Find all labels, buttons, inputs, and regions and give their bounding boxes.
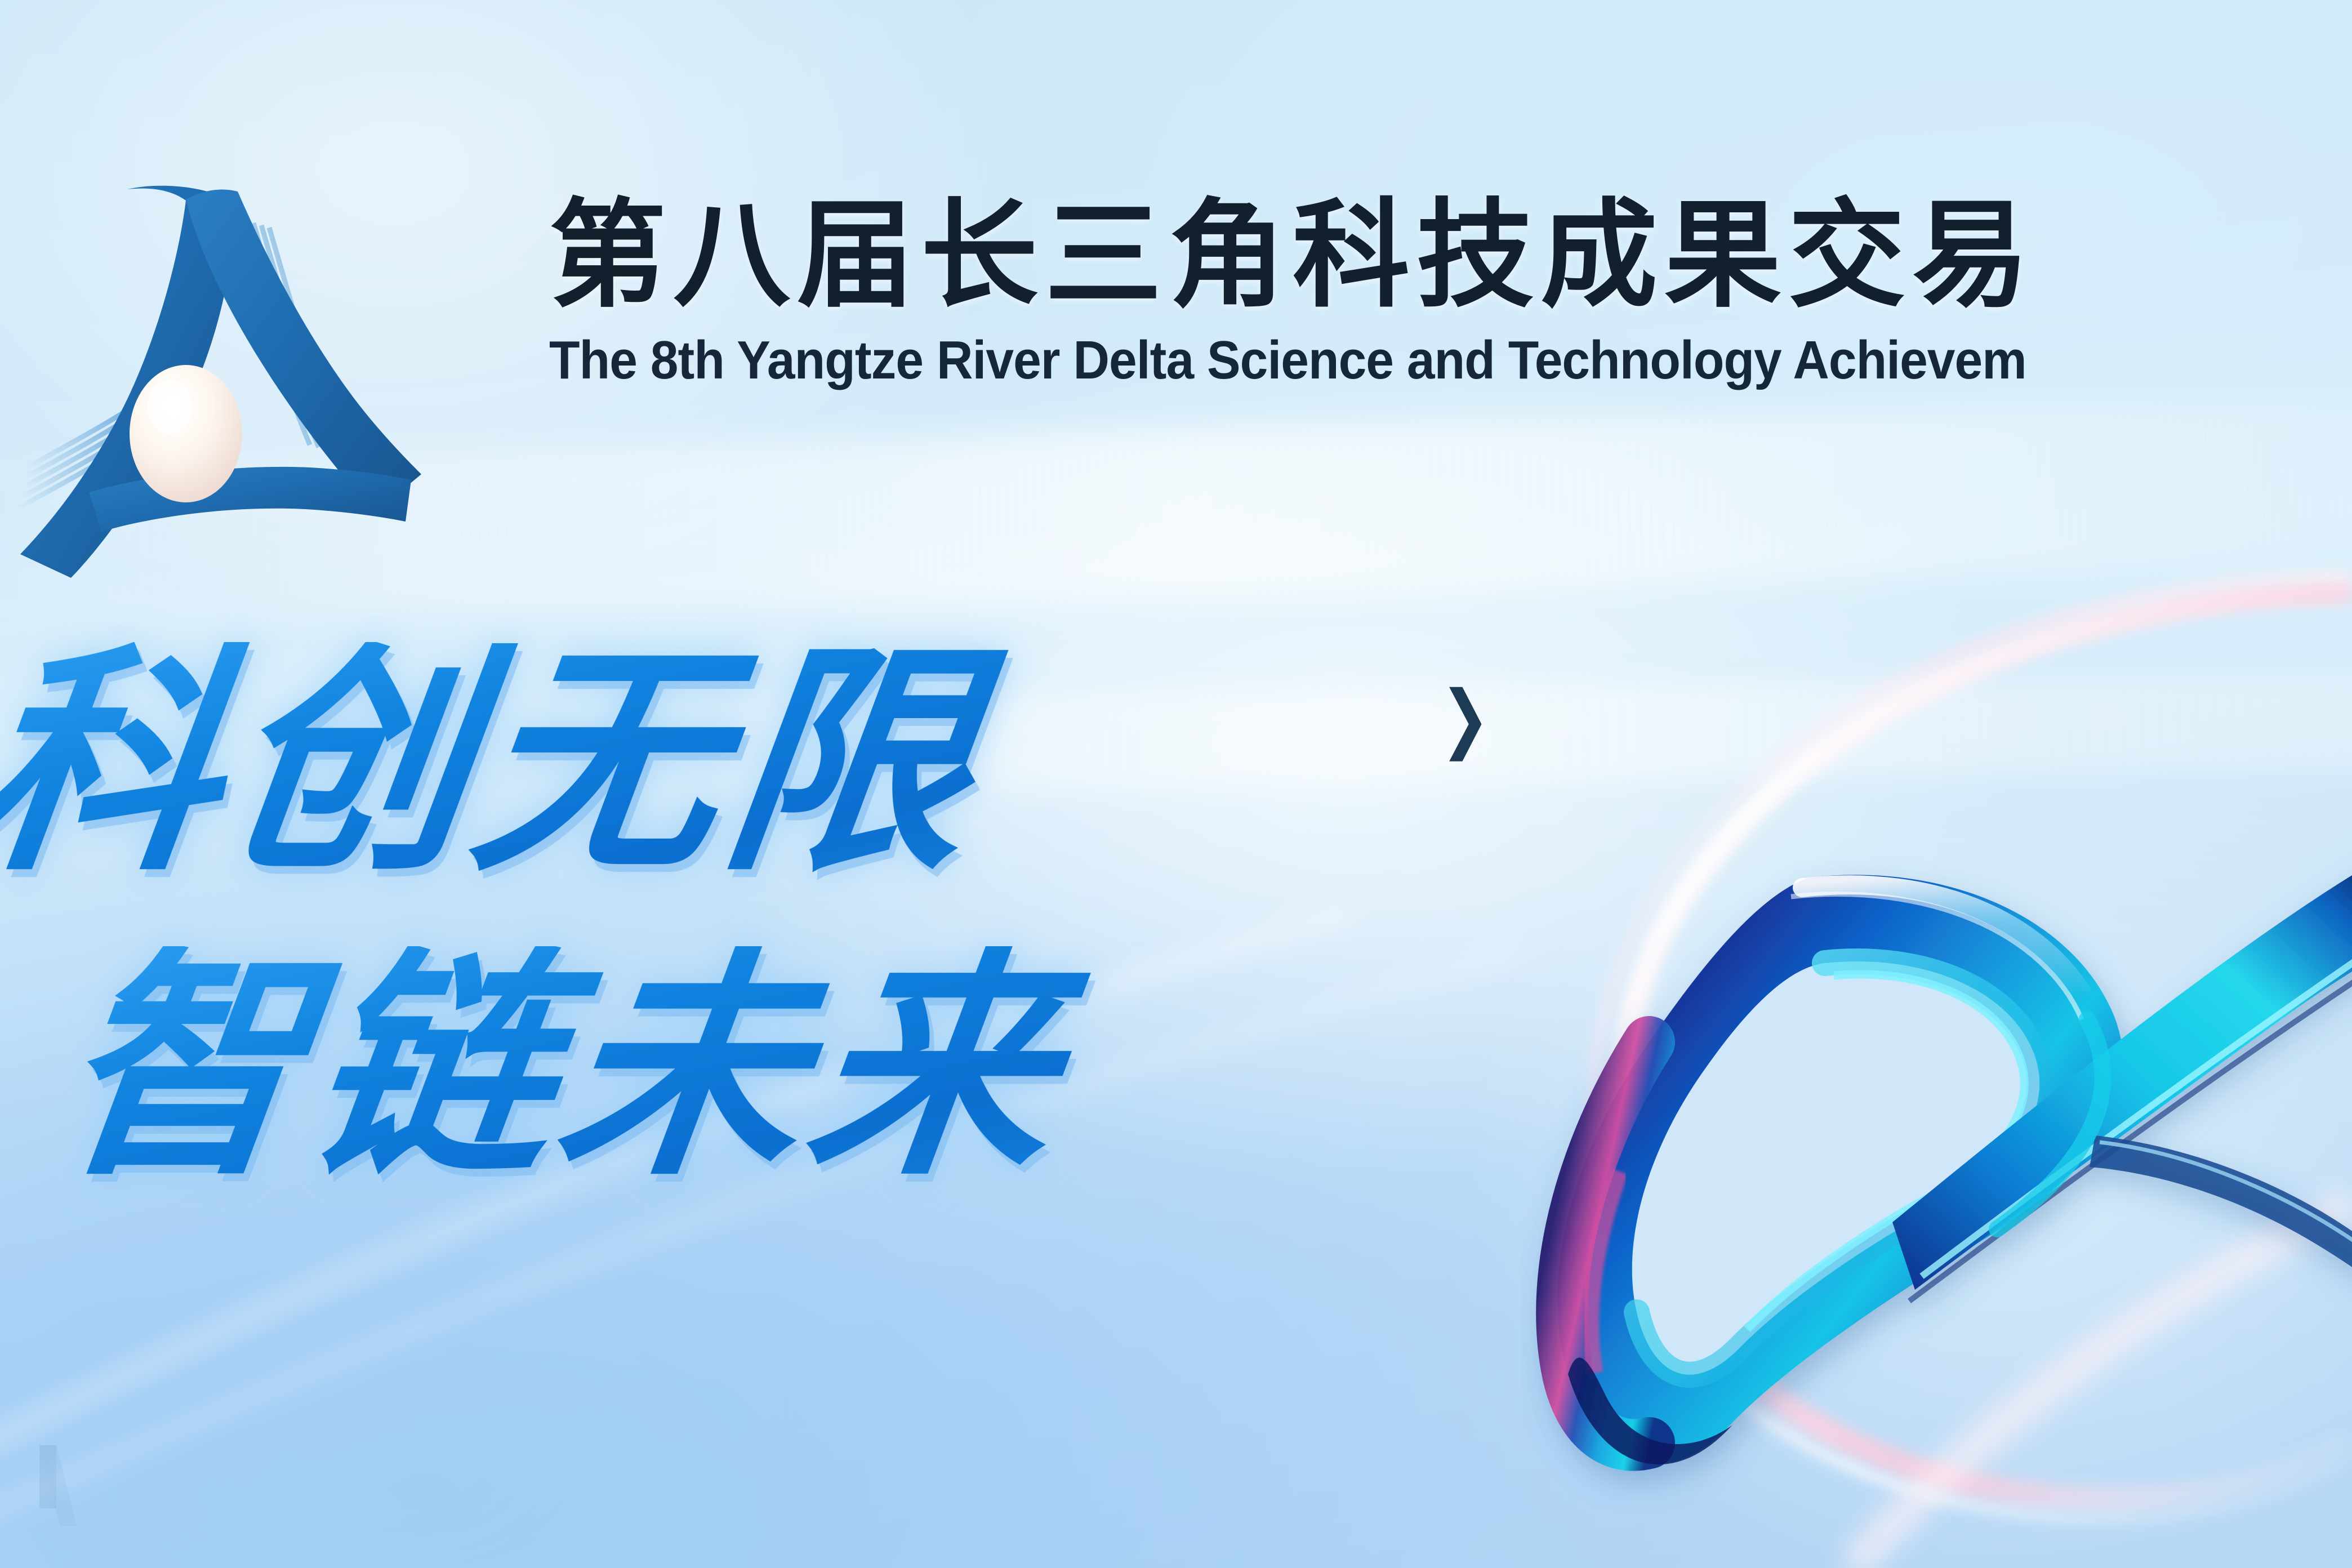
- slogan-line-1: 科创无限: [0, 642, 1569, 884]
- slogan-block: 科创无限 智链未来: [0, 642, 1554, 1188]
- corner-watermark: [20, 1442, 93, 1526]
- header-block: 第八届长三角科技成果交易 The 8th Yangtze River Delta…: [549, 194, 2352, 391]
- ambient-glow-right: [1464, 732, 2352, 1568]
- slogan-line-2: 智链未来: [47, 946, 1570, 1188]
- yangtze-delta-triangle-logo: [17, 152, 422, 580]
- page-subtitle: The 8th Yangtze River Delta Science and …: [549, 329, 2330, 391]
- page-title: 第八届长三角科技成果交易: [549, 194, 2352, 317]
- chevron-right-icon: ❯: [1440, 688, 1481, 750]
- event-banner: 第八届长三角科技成果交易 The 8th Yangtze River Delta…: [0, 0, 2352, 1568]
- infinity-loop-ribbon: [1521, 777, 2352, 1521]
